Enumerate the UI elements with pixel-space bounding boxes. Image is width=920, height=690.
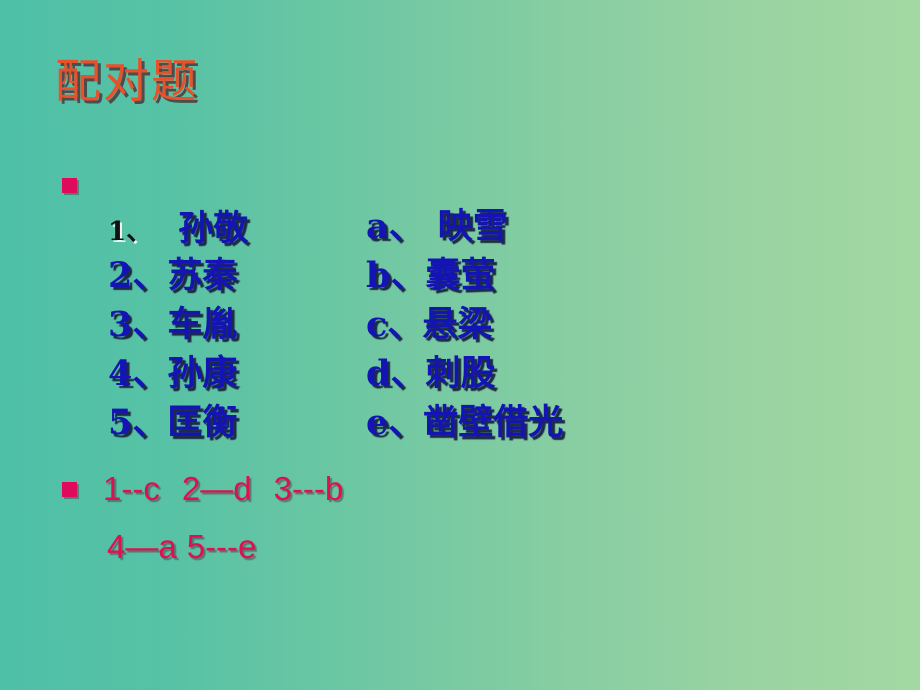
match-row-right: b、囊萤: [366, 255, 496, 297]
match-row-right: c、悬梁: [366, 304, 492, 346]
answer-line-second: 4—a5---e: [107, 528, 256, 566]
match-row-index: 1、: [108, 217, 152, 247]
match-row-letter: d、: [366, 353, 425, 394]
match-row-index: 5、: [108, 402, 167, 443]
page-title: 配对题: [55, 57, 199, 105]
match-row-right: e、凿壁借光: [366, 402, 563, 444]
match-row-answer-term: 刺股: [425, 353, 495, 394]
answer-pair-2: 2—d: [182, 470, 252, 507]
square-bullet-icon-list: [62, 178, 77, 193]
match-row-term: 孙敬: [178, 208, 248, 249]
match-row-left: 1、孙敬: [108, 206, 248, 255]
match-row-term: 苏秦: [167, 255, 237, 296]
match-row: 2、苏秦 b、囊萤: [108, 255, 748, 304]
match-row: 1、孙敬 a、映雪: [108, 206, 748, 255]
match-row: 5、匡衡 e、凿壁借光: [108, 402, 748, 451]
answer-pair-3: 3---b: [274, 470, 344, 507]
match-row-left: 5、匡衡: [108, 402, 237, 444]
match-row-term: 车胤: [167, 304, 237, 345]
match-row-right: a、映雪: [366, 206, 508, 248]
match-row-index: 4、: [108, 353, 167, 394]
match-row-term: 孙康: [167, 353, 237, 394]
matching-list: 1、孙敬 a、映雪 2、苏秦 b、囊萤 3、车胤 c、悬梁 4、孙康 d、刺股 …: [108, 206, 748, 451]
match-row-letter: e、: [366, 402, 423, 443]
square-bullet-icon-answers: [62, 482, 77, 497]
match-row-answer-term: 囊萤: [425, 255, 495, 296]
answer-line-first: 1--c2—d3---b: [103, 470, 343, 508]
match-row-left: 4、孙康: [108, 353, 237, 395]
match-row-answer-term: 凿壁借光: [423, 402, 563, 443]
match-row-letter: a、: [366, 206, 424, 247]
answer-pair-1: 1--c: [103, 470, 160, 507]
match-row-index: 3、: [108, 304, 167, 345]
answer-pair-5: 5---e: [187, 528, 257, 565]
match-row-index: 2、: [108, 255, 167, 296]
match-row-answer-term: 映雪: [438, 206, 508, 247]
match-row-left: 2、苏秦: [108, 255, 237, 297]
match-row-right: d、刺股: [366, 353, 496, 395]
match-row: 4、孙康 d、刺股: [108, 353, 748, 402]
match-row-answer-term: 悬梁: [422, 304, 492, 345]
match-row-letter: c、: [366, 304, 422, 345]
slide-canvas: 配对题 1、孙敬 a、映雪 2、苏秦 b、囊萤 3、车胤 c、悬梁 4、孙康 d…: [0, 0, 920, 690]
match-row-letter: b、: [366, 255, 425, 296]
answer-pair-4: 4—a: [107, 528, 177, 565]
match-row-term: 匡衡: [167, 402, 237, 443]
match-row-left: 3、车胤: [108, 304, 237, 346]
match-row: 3、车胤 c、悬梁: [108, 304, 748, 353]
